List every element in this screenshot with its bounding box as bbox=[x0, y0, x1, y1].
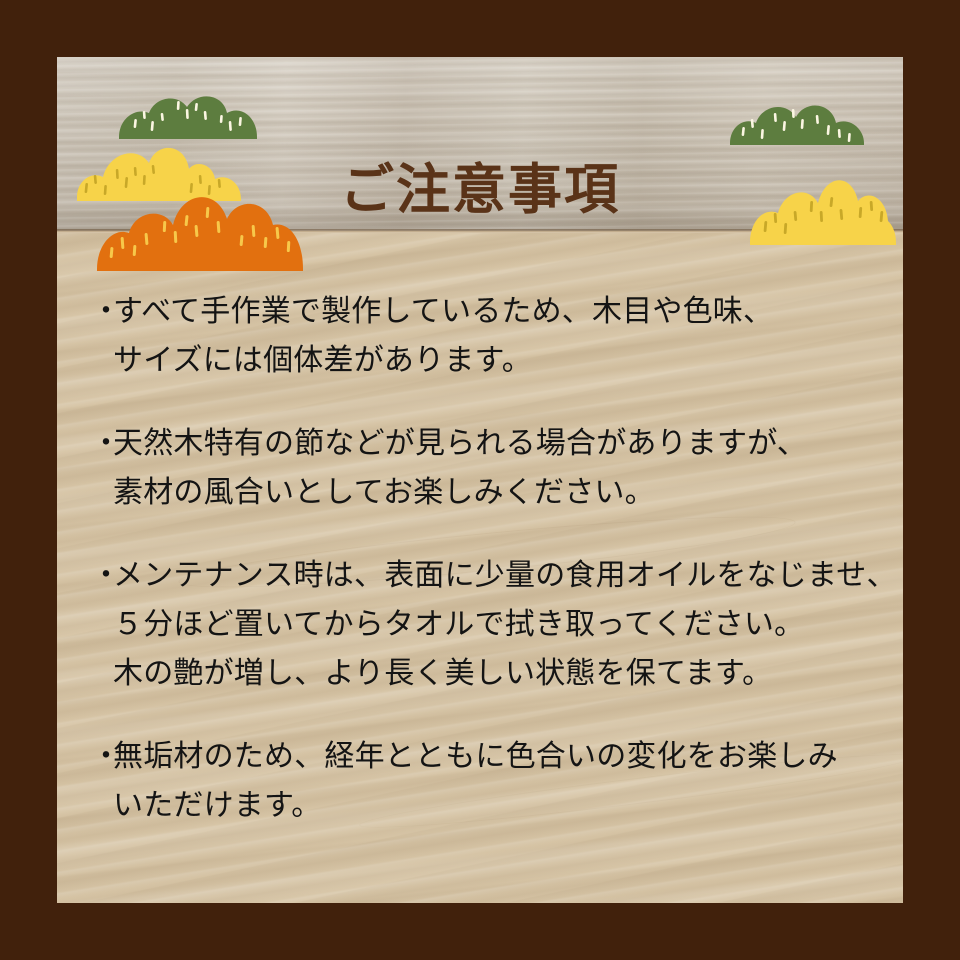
note-line: 無垢材のため、経年とともに色合いの変化をお楽しみ bbox=[113, 732, 891, 781]
note-line: いただけます。 bbox=[113, 781, 891, 830]
bullet-marker: ・ bbox=[91, 732, 113, 781]
list-item: ・ メンテナンス時は、表面に少量の食用オイルをなじませ、 ５分ほど置いてからタオ… bbox=[91, 551, 891, 698]
note-line: すべて手作業で製作しているため、木目や色味、 bbox=[113, 287, 891, 336]
note-text: 無垢材のため、経年とともに色合いの変化をお楽しみ いただけます。 bbox=[113, 732, 891, 830]
note-line: 天然木特有の節などが見られる場合がありますが、 bbox=[113, 419, 891, 468]
note-line: ５分ほど置いてからタオルで拭き取ってください。 bbox=[113, 600, 897, 649]
note-text: 天然木特有の節などが見られる場合がありますが、 素材の風合いとしてお楽しみくださ… bbox=[113, 419, 891, 517]
green-mountain-icon bbox=[119, 96, 257, 139]
wood-grain-sweep bbox=[97, 896, 796, 903]
bullet-marker: ・ bbox=[91, 551, 113, 600]
notes-list: ・ すべて手作業で製作しているため、木目や色味、 サイズには個体差があります。 … bbox=[91, 287, 891, 864]
page-title: ご注意事項 bbox=[57, 145, 903, 224]
green-mountain-icon bbox=[730, 106, 864, 145]
bullet-marker: ・ bbox=[91, 419, 113, 468]
list-item: ・ 無垢材のため、経年とともに色合いの変化をお楽しみ いただけます。 bbox=[91, 732, 891, 830]
note-line: メンテナンス時は、表面に少量の食用オイルをなじませ、 bbox=[113, 551, 897, 600]
list-item: ・ すべて手作業で製作しているため、木目や色味、 サイズには個体差があります。 bbox=[91, 287, 891, 385]
list-item: ・ 天然木特有の節などが見られる場合がありますが、 素材の風合いとしてお楽しみく… bbox=[91, 419, 891, 517]
poster-frame: ご注意事項 ・ すべて手作業で製作しているため、木目や色味、 サイズには個体差が… bbox=[0, 0, 960, 960]
note-text: メンテナンス時は、表面に少量の食用オイルをなじませ、 ５分ほど置いてからタオルで… bbox=[113, 551, 897, 698]
note-text: すべて手作業で製作しているため、木目や色味、 サイズには個体差があります。 bbox=[113, 287, 891, 385]
note-line: 素材の風合いとしてお楽しみください。 bbox=[113, 468, 891, 517]
bullet-marker: ・ bbox=[91, 287, 113, 336]
wood-panel-background: ご注意事項 ・ すべて手作業で製作しているため、木目や色味、 サイズには個体差が… bbox=[57, 57, 903, 903]
note-line: 木の艶が増し、より長く美しい状態を保てます。 bbox=[113, 649, 897, 698]
note-line: サイズには個体差があります。 bbox=[113, 336, 891, 385]
